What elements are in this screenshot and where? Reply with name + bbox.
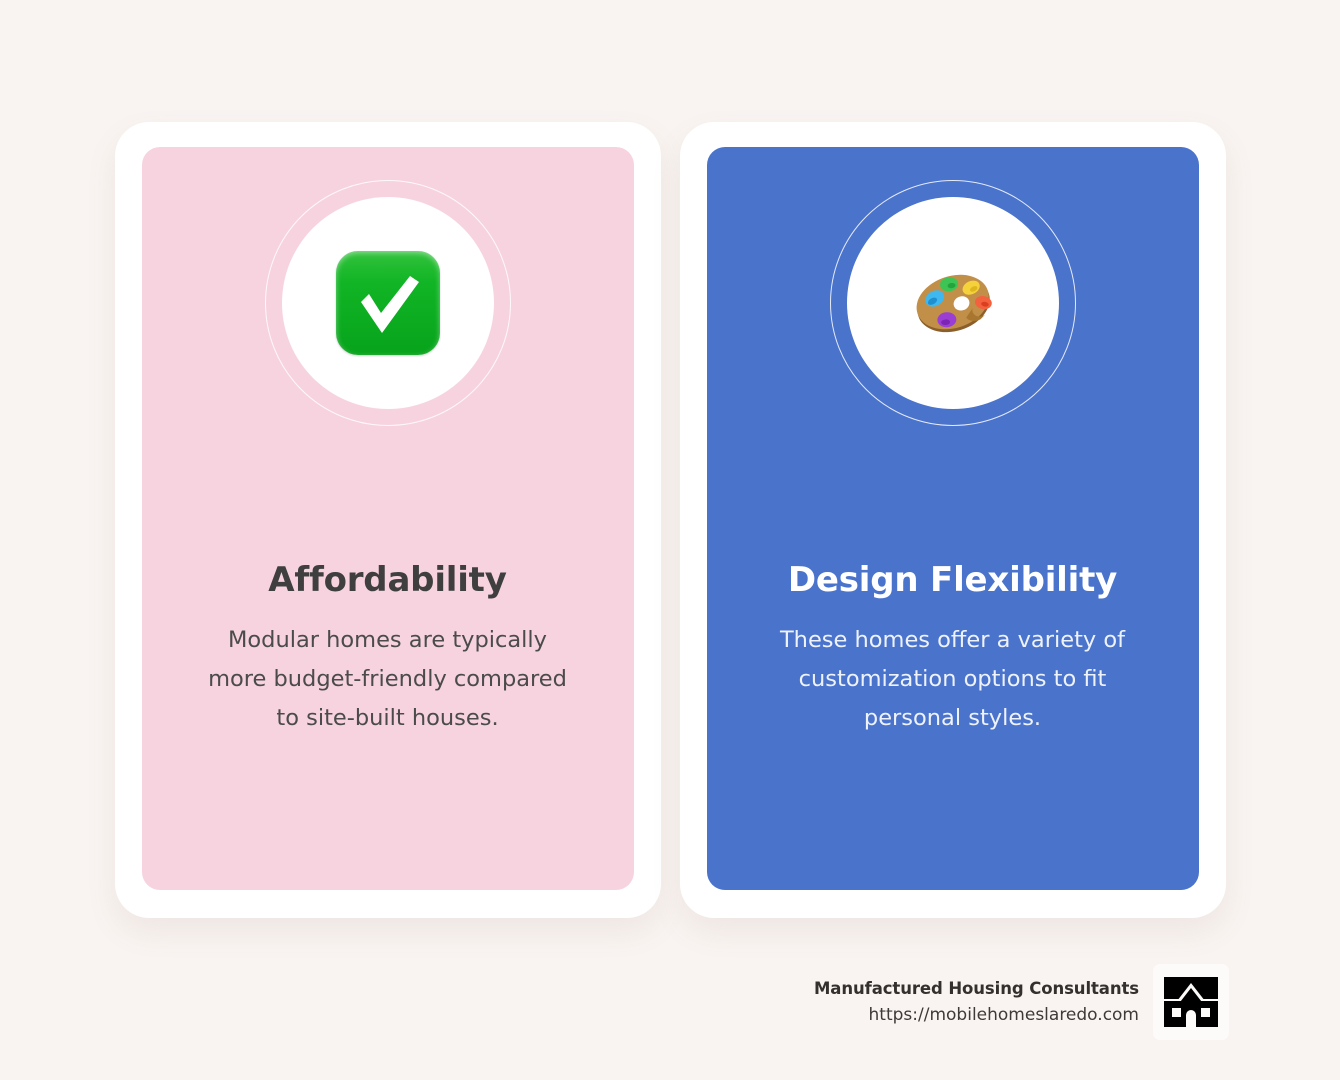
footer-text-block: Manufactured Housing Consultants https:/…	[814, 979, 1139, 1025]
medallion-disc	[282, 197, 494, 409]
feature-card-affordability[interactable]: Affordability Modular homes are typicall…	[115, 122, 661, 918]
card-panel-affordability: Affordability Modular homes are typicall…	[142, 147, 634, 890]
footer-branding: Manufactured Housing Consultants https:/…	[814, 964, 1229, 1040]
icon-medallion-design-flexibility	[830, 180, 1076, 426]
icon-medallion-affordability	[265, 180, 511, 426]
feature-card-design-flexibility[interactable]: Design Flexibility These homes offer a v…	[680, 122, 1226, 918]
feature-cards-row: Affordability Modular homes are typicall…	[0, 0, 1340, 960]
artist-palette-icon	[901, 251, 1005, 355]
footer-website-url[interactable]: https://mobilehomeslaredo.com	[869, 1005, 1139, 1025]
footer-brand-name: Manufactured Housing Consultants	[814, 979, 1139, 998]
green-check-mark-icon	[336, 251, 440, 355]
card-body-affordability: Modular homes are typically more budget-…	[198, 621, 578, 737]
medallion-disc	[847, 197, 1059, 409]
card-title-affordability: Affordability	[268, 562, 506, 599]
footer-logo-tile[interactable]	[1153, 964, 1229, 1040]
card-panel-design-flexibility: Design Flexibility These homes offer a v…	[707, 147, 1199, 890]
card-body-design-flexibility: These homes offer a variety of customiza…	[763, 621, 1143, 737]
house-logo-icon	[1161, 975, 1221, 1029]
infographic-canvas: Affordability Modular homes are typicall…	[0, 0, 1340, 1080]
card-title-design-flexibility: Design Flexibility	[788, 562, 1117, 599]
